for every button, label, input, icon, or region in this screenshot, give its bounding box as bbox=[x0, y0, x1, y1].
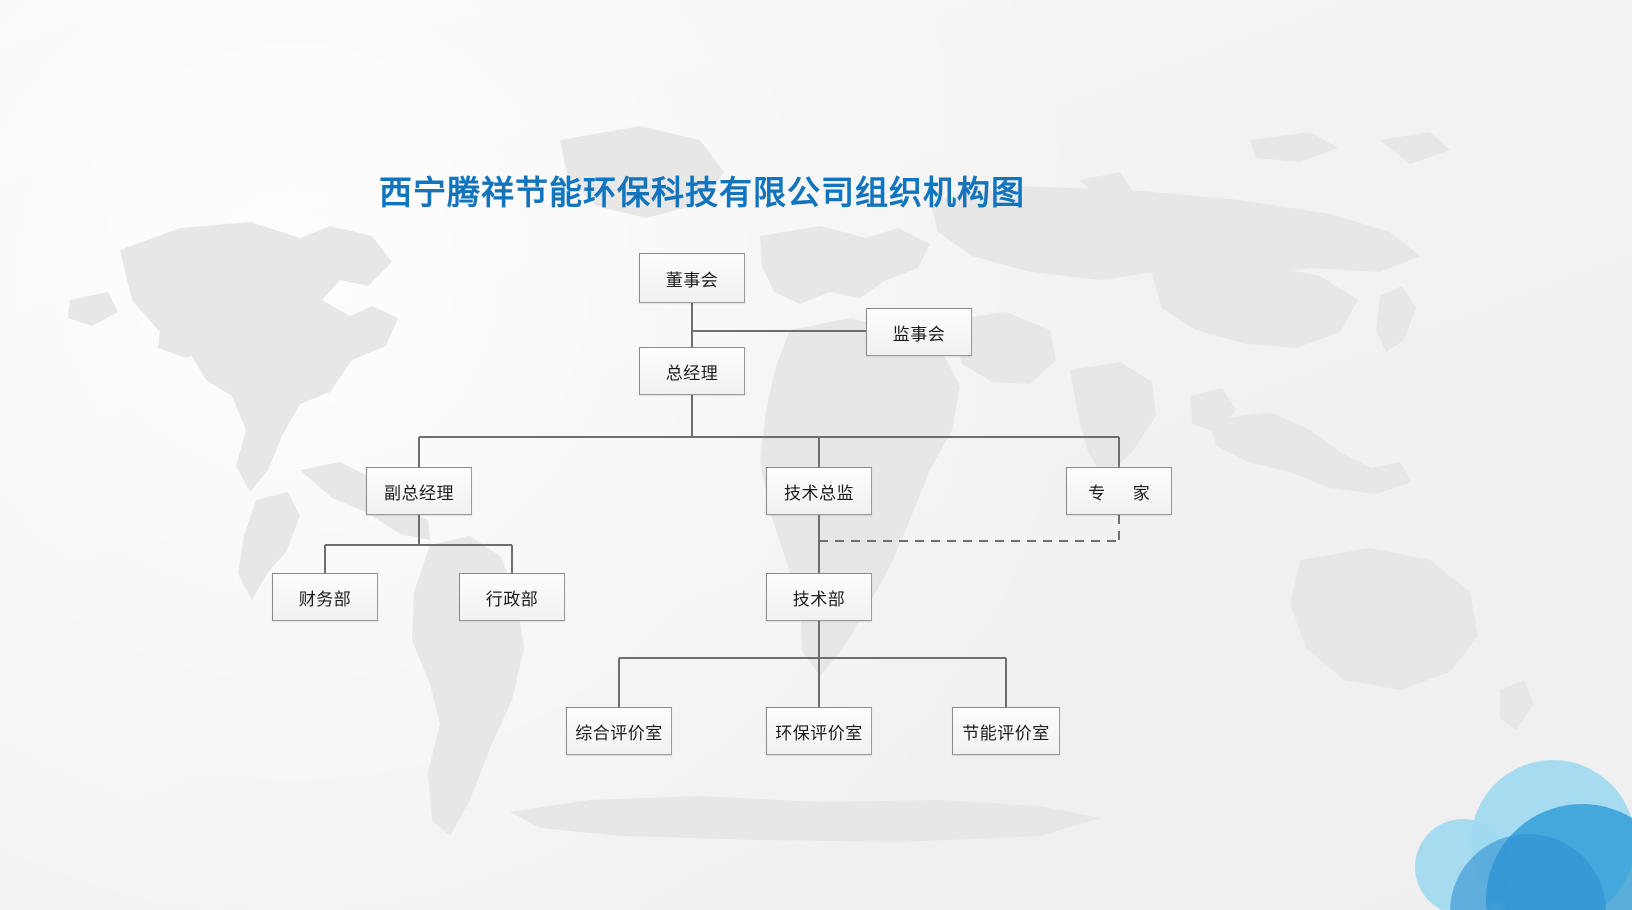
org-node-finance[interactable]: 财务部 bbox=[272, 573, 378, 621]
org-node-label: 财务部 bbox=[299, 585, 352, 610]
org-node-supervisors[interactable]: 监事会 bbox=[866, 308, 972, 356]
org-node-label: 行政部 bbox=[486, 585, 539, 610]
org-node-label: 综合评价室 bbox=[575, 719, 663, 744]
org-node-tech-dept[interactable]: 技术部 bbox=[766, 573, 872, 621]
org-node-general-eval[interactable]: 综合评价室 bbox=[566, 707, 672, 755]
org-node-expert[interactable]: 专 家 bbox=[1066, 467, 1172, 515]
org-node-label: 技术部 bbox=[793, 585, 846, 610]
org-node-label: 董事会 bbox=[666, 266, 719, 291]
org-node-label: 总经理 bbox=[666, 359, 719, 384]
org-node-label: 副总经理 bbox=[384, 479, 454, 504]
org-node-gm[interactable]: 总经理 bbox=[639, 347, 745, 395]
slide-canvas: 西宁腾祥节能环保科技有限公司组织机构图 bbox=[0, 0, 1632, 910]
org-node-label: 技术总监 bbox=[784, 479, 854, 504]
org-node-tech-director[interactable]: 技术总监 bbox=[766, 467, 872, 515]
org-node-env-eval[interactable]: 环保评价室 bbox=[766, 707, 872, 755]
org-node-label: 环保评价室 bbox=[775, 719, 863, 744]
org-node-deputy-gm[interactable]: 副总经理 bbox=[366, 467, 472, 515]
org-node-board[interactable]: 董事会 bbox=[639, 253, 745, 303]
org-node-label: 监事会 bbox=[893, 320, 946, 345]
org-node-energy-eval[interactable]: 节能评价室 bbox=[952, 707, 1060, 755]
org-node-label: 专 家 bbox=[1077, 479, 1160, 504]
org-node-admin[interactable]: 行政部 bbox=[459, 573, 565, 621]
org-node-label: 节能评价室 bbox=[962, 719, 1050, 744]
org-chart-connectors bbox=[0, 0, 1632, 910]
